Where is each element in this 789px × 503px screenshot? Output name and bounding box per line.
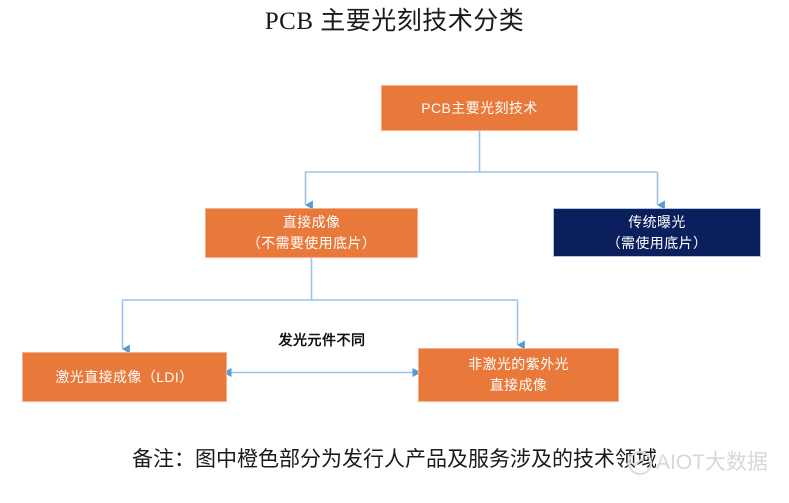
node-pcb-main-lithography[interactable]: PCB主要光刻技术 bbox=[381, 85, 578, 131]
node-line: （不需要使用底片） bbox=[247, 233, 377, 254]
node-line: 传统曝光 bbox=[628, 212, 686, 233]
edge-label-light-source-difference: 发光元件不同 bbox=[248, 330, 396, 350]
diagram-caption: 备注：图中橙色部分为发行人产品及服务涉及的技术领域 bbox=[0, 444, 789, 474]
flowchart: PCB主要光刻技术 直接成像 （不需要使用底片） 传统曝光 （需使用底片） 激光… bbox=[0, 0, 789, 503]
node-traditional-exposure[interactable]: 传统曝光 （需使用底片） bbox=[553, 208, 761, 257]
node-line: （需使用底片） bbox=[607, 233, 708, 254]
diagram-page: PCB 主要光刻技术分类 bbox=[0, 0, 789, 503]
node-line: 非激光的紫外光 bbox=[468, 354, 569, 375]
node-direct-imaging[interactable]: 直接成像 （不需要使用底片） bbox=[205, 208, 418, 258]
node-line: 直接成像 bbox=[283, 212, 341, 233]
node-line: 直接成像 bbox=[490, 375, 548, 396]
node-line: 激光直接成像（LDI） bbox=[55, 367, 193, 388]
node-non-laser-uv-direct-imaging[interactable]: 非激光的紫外光 直接成像 bbox=[418, 348, 619, 402]
node-laser-direct-imaging-ldi[interactable]: 激光直接成像（LDI） bbox=[22, 352, 227, 402]
node-line: PCB主要光刻技术 bbox=[421, 98, 537, 119]
